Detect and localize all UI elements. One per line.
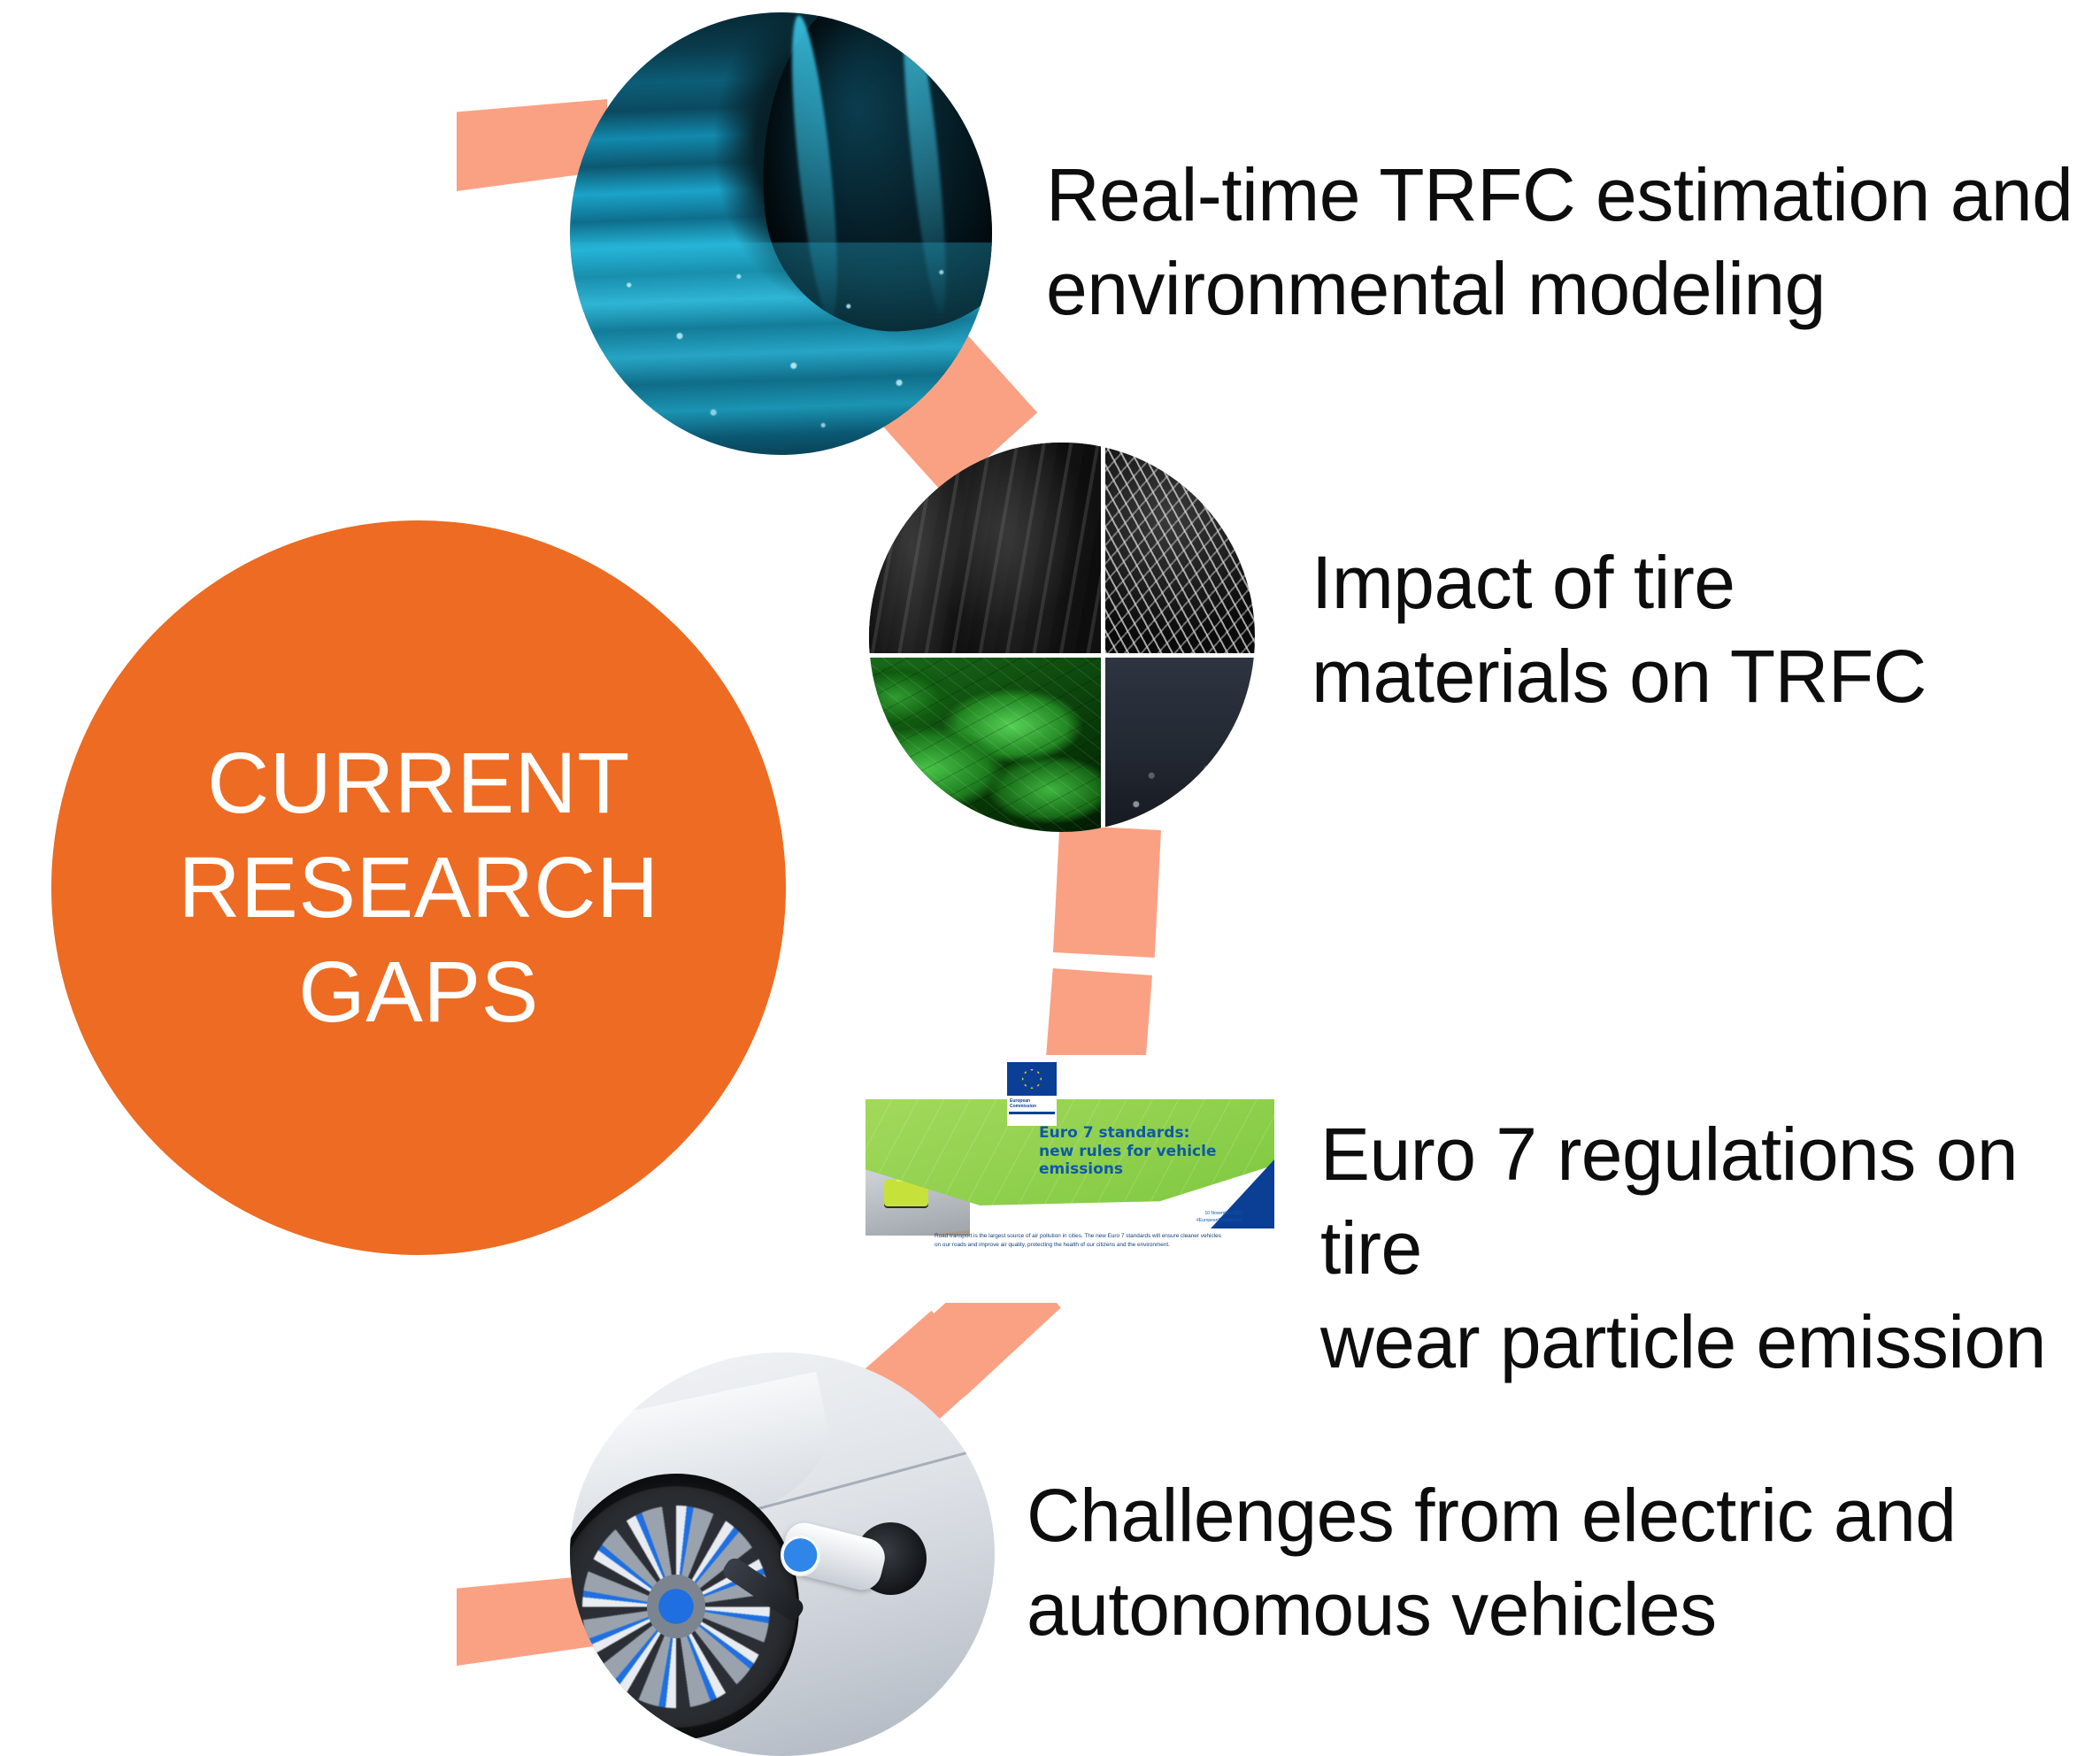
european-commission-logo: European Commission [1007, 1062, 1057, 1126]
charging-plug-badge-icon [781, 1534, 821, 1576]
materials-collage-grid [869, 443, 1255, 832]
node-label-real-time-trfc: Real-time TRFC estimation and environmen… [1046, 149, 2090, 336]
eu-stars-icon [1022, 1069, 1042, 1089]
hub-title: CURRENT RESEARCH GAPS [179, 731, 659, 1045]
carbon-pellets-quadrant-icon [1105, 658, 1255, 832]
poster-body-text: Road transport is the largest source of … [935, 1232, 1227, 1250]
poster-date-stamp: 10 November 2022 #EuropeanCommission [1136, 1211, 1242, 1224]
node-label-tire-materials: Impact of tire materials on TRFC [1312, 536, 2090, 724]
eu-institution-name: European Commission [1007, 1096, 1057, 1110]
tire-materials-collage-image [869, 443, 1255, 832]
eu-logo-rule [1009, 1112, 1055, 1114]
ev-charging-image [570, 1352, 995, 1756]
poster-headline: Euro 7 standards: new rules for vehicle … [1039, 1124, 1260, 1179]
alloy-wheel-icon [570, 1474, 799, 1740]
wet-tire-graphic [570, 12, 992, 455]
node-label-electric-autonomous: Challenges from electric and autonomous … [1027, 1469, 2088, 1657]
connector-ribbon-node2-to-node3-upper [1053, 825, 1161, 958]
green-leaves-quadrant-icon [869, 658, 1101, 832]
steel-cords-quadrant-icon [1105, 443, 1255, 653]
eu-flag-icon [1007, 1062, 1057, 1096]
tire-tread-quadrant-icon [869, 443, 1101, 653]
wet-tire-on-road-image [570, 12, 992, 455]
water-spray-shape [570, 243, 992, 455]
node-label-euro7-regulations: Euro 7 regulations on tire wear particle… [1320, 1108, 2099, 1389]
ev-charging-graphic [570, 1352, 995, 1756]
infographic-canvas: CURRENT RESEARCH GAPS Real-time TRFC est… [0, 0, 2100, 1756]
euro7-poster-image: European Commission Euro 7 standards: ne… [865, 1055, 1274, 1303]
euro7-poster-graphic: European Commission Euro 7 standards: ne… [865, 1055, 1274, 1303]
current-research-gaps-hub: CURRENT RESEARCH GAPS [51, 520, 786, 1255]
